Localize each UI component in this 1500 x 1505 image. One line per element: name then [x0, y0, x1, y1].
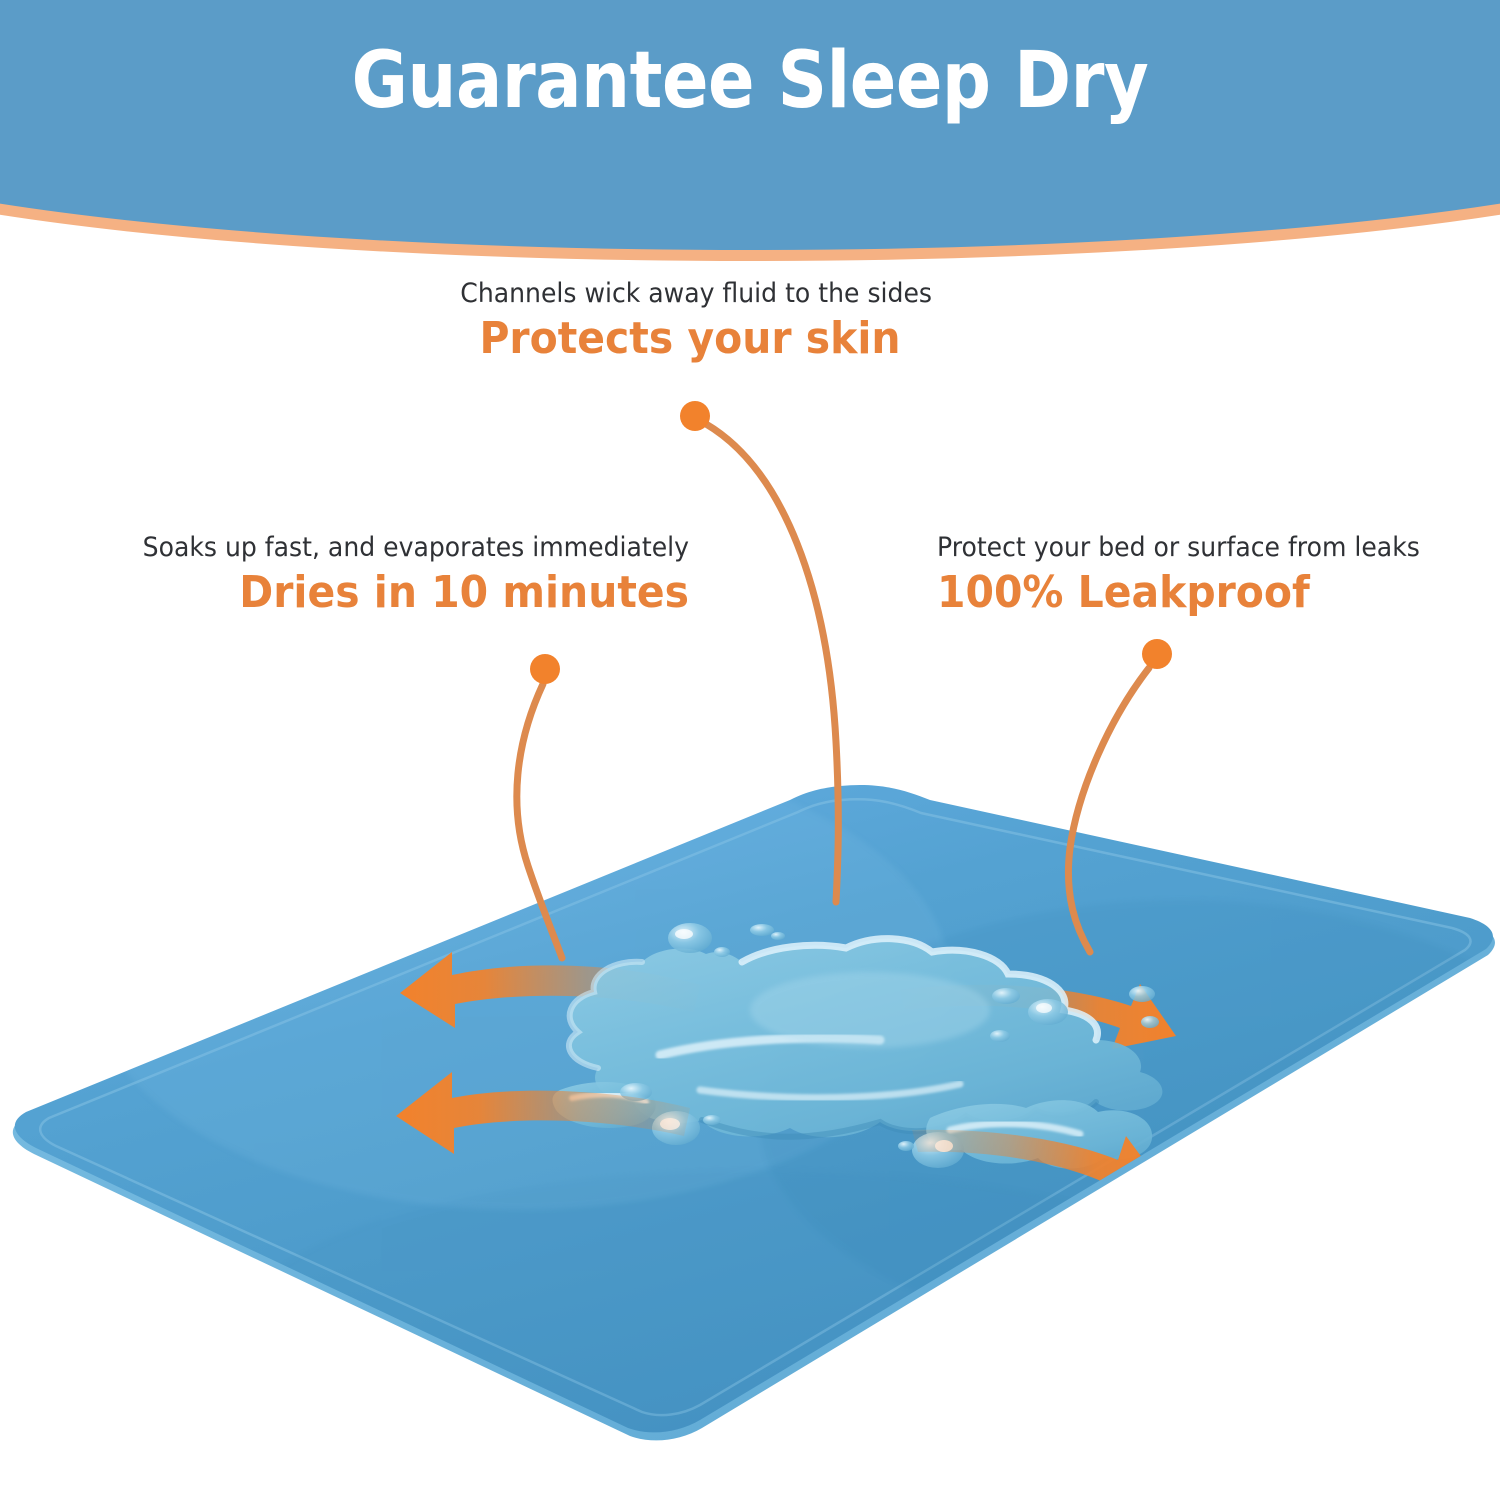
- callout-subtitle: Soaks up fast, and evaporates immediatel…: [127, 532, 689, 563]
- page-title: Guarantee Sleep Dry: [90, 42, 1410, 120]
- callout-subtitle: Channels wick away fluid to the sides: [460, 278, 919, 309]
- callout-headline: Protects your skin: [460, 313, 919, 365]
- callout-headline: Dries in 10 minutes: [127, 567, 689, 619]
- product-svg: [0, 0, 1500, 1500]
- callout-subtitle: Protect your bed or surface from leaks: [937, 532, 1439, 563]
- callout-100-leakproof: Protect your bed or surface from leaks 1…: [937, 532, 1477, 619]
- callout-dries-in-10-minutes: Soaks up fast, and evaporates immediatel…: [85, 532, 689, 619]
- callout-protects-your-skin: Channels wick away fluid to the sides Pr…: [443, 278, 937, 365]
- callout-headline: 100% Leakproof: [937, 567, 1439, 619]
- product-illustration: [0, 0, 1500, 1500]
